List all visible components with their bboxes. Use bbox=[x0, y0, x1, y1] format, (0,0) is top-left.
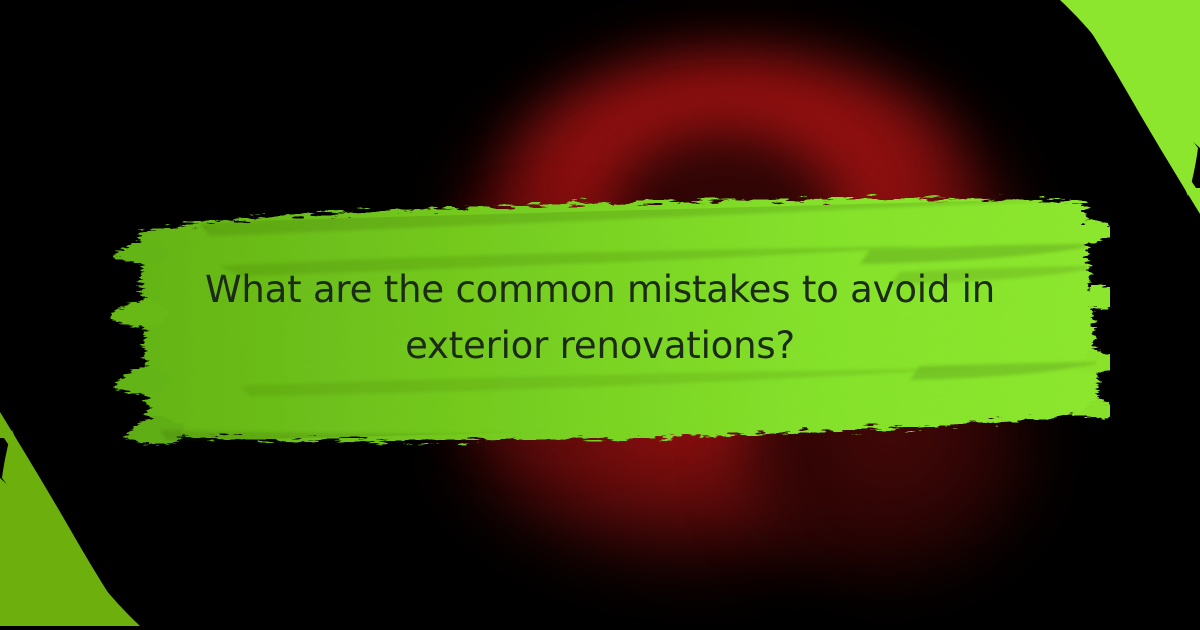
headline-text: What are the common mistakes to avoid in… bbox=[150, 262, 1050, 374]
poster-canvas: What are the common mistakes to avoid in… bbox=[0, 0, 1200, 630]
